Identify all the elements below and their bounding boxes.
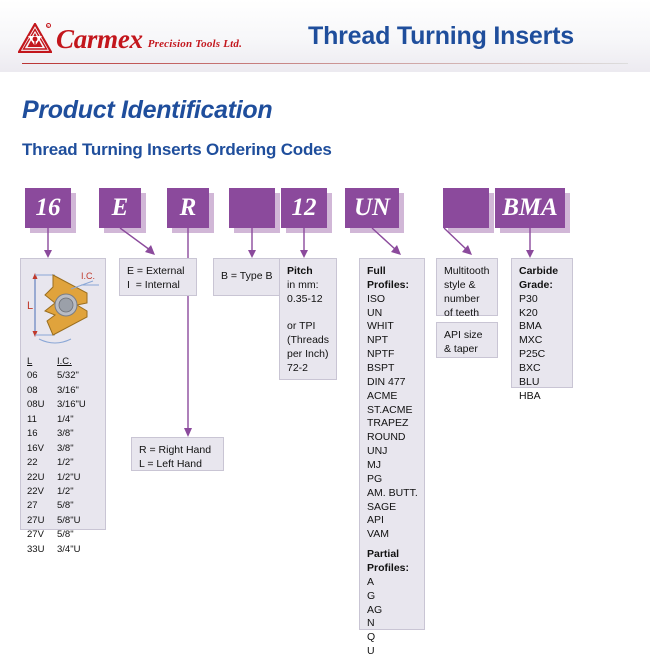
size-table-row: 083/16" xyxy=(27,384,101,398)
size-table-row: 22U1/2"U xyxy=(27,471,101,485)
partial-profile-item: G xyxy=(367,590,417,604)
size-table-cell-l: 06 xyxy=(27,369,57,383)
right-hand-line: R = Right Hand xyxy=(139,444,216,458)
size-table-cell-ic: 3/4"U xyxy=(57,543,80,557)
size-table-cell-ic: 1/2" xyxy=(57,485,74,499)
full-profiles-heading-2: Profiles: xyxy=(367,279,417,293)
type-b-box: B = Type B xyxy=(213,258,283,296)
size-table-cell-l: 27U xyxy=(27,514,57,528)
partial-profile-item: Q xyxy=(367,631,417,645)
size-table-row: 065/32" xyxy=(27,369,101,383)
external-internal-box: E = External I = Internal xyxy=(119,258,197,296)
size-table-row: 163/8" xyxy=(27,427,101,441)
page-header: R Carmex Precision Tools Ltd. Thread Tur… xyxy=(0,0,650,72)
external-internal-line-1: E = External xyxy=(127,265,189,279)
size-table-col-l: L xyxy=(27,355,57,369)
full-profile-item: NPTF xyxy=(367,348,417,362)
carbide-grade-item: P25C xyxy=(519,348,565,362)
code-box-7[interactable] xyxy=(443,188,489,228)
size-table-cell-ic: 5/8"U xyxy=(57,514,80,528)
size-table-row: 22V1/2" xyxy=(27,485,101,499)
carbide-grade-item: BXC xyxy=(519,362,565,376)
size-table-row: 111/4" xyxy=(27,413,101,427)
pitch-line-6: per Inch) xyxy=(287,348,329,362)
insert-dimension-box: L I.C. L I.C. 065/32"083/16"08U3/16"U111… xyxy=(20,258,106,530)
size-table-header: L I.C. xyxy=(27,355,101,369)
carbide-grade-item: HBA xyxy=(519,390,565,404)
partial-profile-item: U xyxy=(367,645,417,659)
size-table-cell-ic: 3/8" xyxy=(57,427,74,441)
code-box-2[interactable]: E xyxy=(99,188,141,228)
partial-profile-item: A xyxy=(367,576,417,590)
size-table-cell-l: 16V xyxy=(27,442,57,456)
full-profiles-list: ISOUNWHITNPTNPTFBSPTDIN 477ACMEST.ACMETR… xyxy=(367,293,417,542)
api-line-1: API size xyxy=(444,329,490,343)
full-profile-item: BSPT xyxy=(367,362,417,376)
size-table-cell-ic: 5/8" xyxy=(57,499,74,513)
size-table-cell-ic: 3/8" xyxy=(57,442,74,456)
full-profile-item: PG xyxy=(367,473,417,487)
size-table-cell-l: 08U xyxy=(27,398,57,412)
multitooth-box: Multitooth style & number of teeth xyxy=(436,258,498,316)
pitch-heading: Pitch xyxy=(287,265,329,279)
left-hand-line: L = Left Hand xyxy=(139,458,216,472)
full-profile-item: VAM xyxy=(367,528,417,542)
full-profile-item: UNJ xyxy=(367,445,417,459)
pitch-line-4: or TPI xyxy=(287,320,329,334)
code-box-1[interactable]: 16 xyxy=(25,188,71,228)
size-table-cell-l: 11 xyxy=(27,413,57,427)
page-title: Product Identification xyxy=(22,96,272,125)
full-profile-item: UN xyxy=(367,307,417,321)
size-table-row: 27V5/8" xyxy=(27,528,101,542)
external-internal-line-2: I = Internal xyxy=(127,279,189,293)
full-profile-item: API xyxy=(367,514,417,528)
carbide-heading-2: Grade: xyxy=(519,279,565,293)
full-profile-item: ACME xyxy=(367,390,417,404)
code-box-4[interactable] xyxy=(229,188,275,228)
insert-drawing-icon: L I.C. xyxy=(21,259,105,351)
size-table-cell-ic: 1/2"U xyxy=(57,471,80,485)
brand-tagline: Precision Tools Ltd. xyxy=(148,38,242,50)
svg-text:L: L xyxy=(27,300,33,312)
carbide-grade-box: Carbide Grade: P30K20BMAMXCP25CBXCBLUHBA xyxy=(511,258,573,388)
full-profile-item: SAGE xyxy=(367,501,417,515)
pitch-line-1: in mm: xyxy=(287,279,329,293)
carbide-heading-1: Carbide xyxy=(519,265,565,279)
size-table-cell-l: 27V xyxy=(27,528,57,542)
size-table-row: 08U3/16"U xyxy=(27,398,101,412)
full-profile-item: MJ xyxy=(367,459,417,473)
brand-name: Carmex xyxy=(56,26,143,53)
right-left-hand-box: R = Right Hand L = Left Hand xyxy=(131,437,224,471)
type-b-line-1: B = Type B xyxy=(221,270,272,284)
size-table-row: 16V3/8" xyxy=(27,442,101,456)
carbide-grade-item: P30 xyxy=(519,293,565,307)
document-page: R Carmex Precision Tools Ltd. Thread Tur… xyxy=(0,0,650,650)
size-table-cell-l: 27 xyxy=(27,499,57,513)
size-table-cell-l: 22V xyxy=(27,485,57,499)
api-line-2: & taper xyxy=(444,343,490,357)
carbide-grade-list: P30K20BMAMXCP25CBXCBLUHBA xyxy=(519,293,565,404)
carmex-triangle-logo-icon: R xyxy=(18,23,52,53)
pitch-line-5: (Threads xyxy=(287,334,329,348)
full-profile-item: TRAPEZ xyxy=(367,417,417,431)
carmex-logo: R Carmex Precision Tools Ltd. xyxy=(18,23,242,53)
size-table-cell-ic: 3/16"U xyxy=(57,398,86,412)
pitch-line-2: 0.35-12 xyxy=(287,293,329,307)
partial-profiles-list: AGAGNQU xyxy=(367,576,417,659)
size-table-row: 27U5/8"U xyxy=(27,514,101,528)
partial-profile-item: N xyxy=(367,617,417,631)
multitooth-line-3: number xyxy=(444,293,490,307)
size-table-cell-ic: 3/16" xyxy=(57,384,79,398)
partial-profiles-heading-1: Partial xyxy=(367,548,417,562)
svg-text:R: R xyxy=(47,24,49,28)
full-profile-item: NPT xyxy=(367,334,417,348)
full-profile-item: ST.ACME xyxy=(367,404,417,418)
size-table-cell-l: 33U xyxy=(27,543,57,557)
carbide-grade-item: BLU xyxy=(519,376,565,390)
multitooth-line-1: Multitooth xyxy=(444,265,490,279)
header-divider xyxy=(22,63,628,64)
multitooth-line-2: style & xyxy=(444,279,490,293)
size-table-cell-ic: 1/4" xyxy=(57,413,74,427)
multitooth-line-4: of teeth xyxy=(444,307,490,321)
size-table-row: 221/2" xyxy=(27,456,101,470)
size-table-row: 275/8" xyxy=(27,499,101,513)
code-box-8[interactable]: BMA xyxy=(495,188,565,228)
size-table-cell-ic: 1/2" xyxy=(57,456,74,470)
svg-text:I.C.: I.C. xyxy=(81,271,95,281)
size-table: L I.C. 065/32"083/16"08U3/16"U111/4"163/… xyxy=(27,355,101,557)
carbide-grade-item: BMA xyxy=(519,320,565,334)
full-profile-item: WHIT xyxy=(367,320,417,334)
full-profile-item: ROUND xyxy=(367,431,417,445)
api-size-box: API size & taper xyxy=(436,322,498,358)
carbide-grade-item: MXC xyxy=(519,334,565,348)
full-profile-item: DIN 477 xyxy=(367,376,417,390)
profiles-box: Full Profiles: ISOUNWHITNPTNPTFBSPTDIN 4… xyxy=(359,258,425,630)
code-box-3[interactable]: R xyxy=(167,188,209,228)
pitch-box: Pitch in mm: 0.35-12 or TPI (Threads per… xyxy=(279,258,337,380)
full-profiles-heading-1: Full xyxy=(367,265,417,279)
pitch-line-7: 72-2 xyxy=(287,362,329,376)
size-table-cell-l: 22 xyxy=(27,456,57,470)
pitch-spacer xyxy=(287,307,329,321)
carbide-grade-item: K20 xyxy=(519,307,565,321)
size-table-cell-l: 22U xyxy=(27,471,57,485)
full-profile-item: AM. BUTT. xyxy=(367,487,417,501)
size-table-cell-ic: 5/32" xyxy=(57,369,79,383)
size-table-row: 33U3/4"U xyxy=(27,543,101,557)
size-table-cell-l: 08 xyxy=(27,384,57,398)
size-table-col-ic: I.C. xyxy=(57,355,72,369)
full-profile-item: ISO xyxy=(367,293,417,307)
page-subtitle: Thread Turning Inserts Ordering Codes xyxy=(22,140,332,160)
code-box-5[interactable]: 12 xyxy=(281,188,327,228)
partial-profiles-heading-2: Profiles: xyxy=(367,562,417,576)
partial-profile-item: AG xyxy=(367,604,417,618)
size-table-cell-l: 16 xyxy=(27,427,57,441)
page-header-title: Thread Turning Inserts xyxy=(308,22,574,51)
size-table-cell-ic: 5/8" xyxy=(57,528,74,542)
code-box-6[interactable]: UN xyxy=(345,188,399,228)
